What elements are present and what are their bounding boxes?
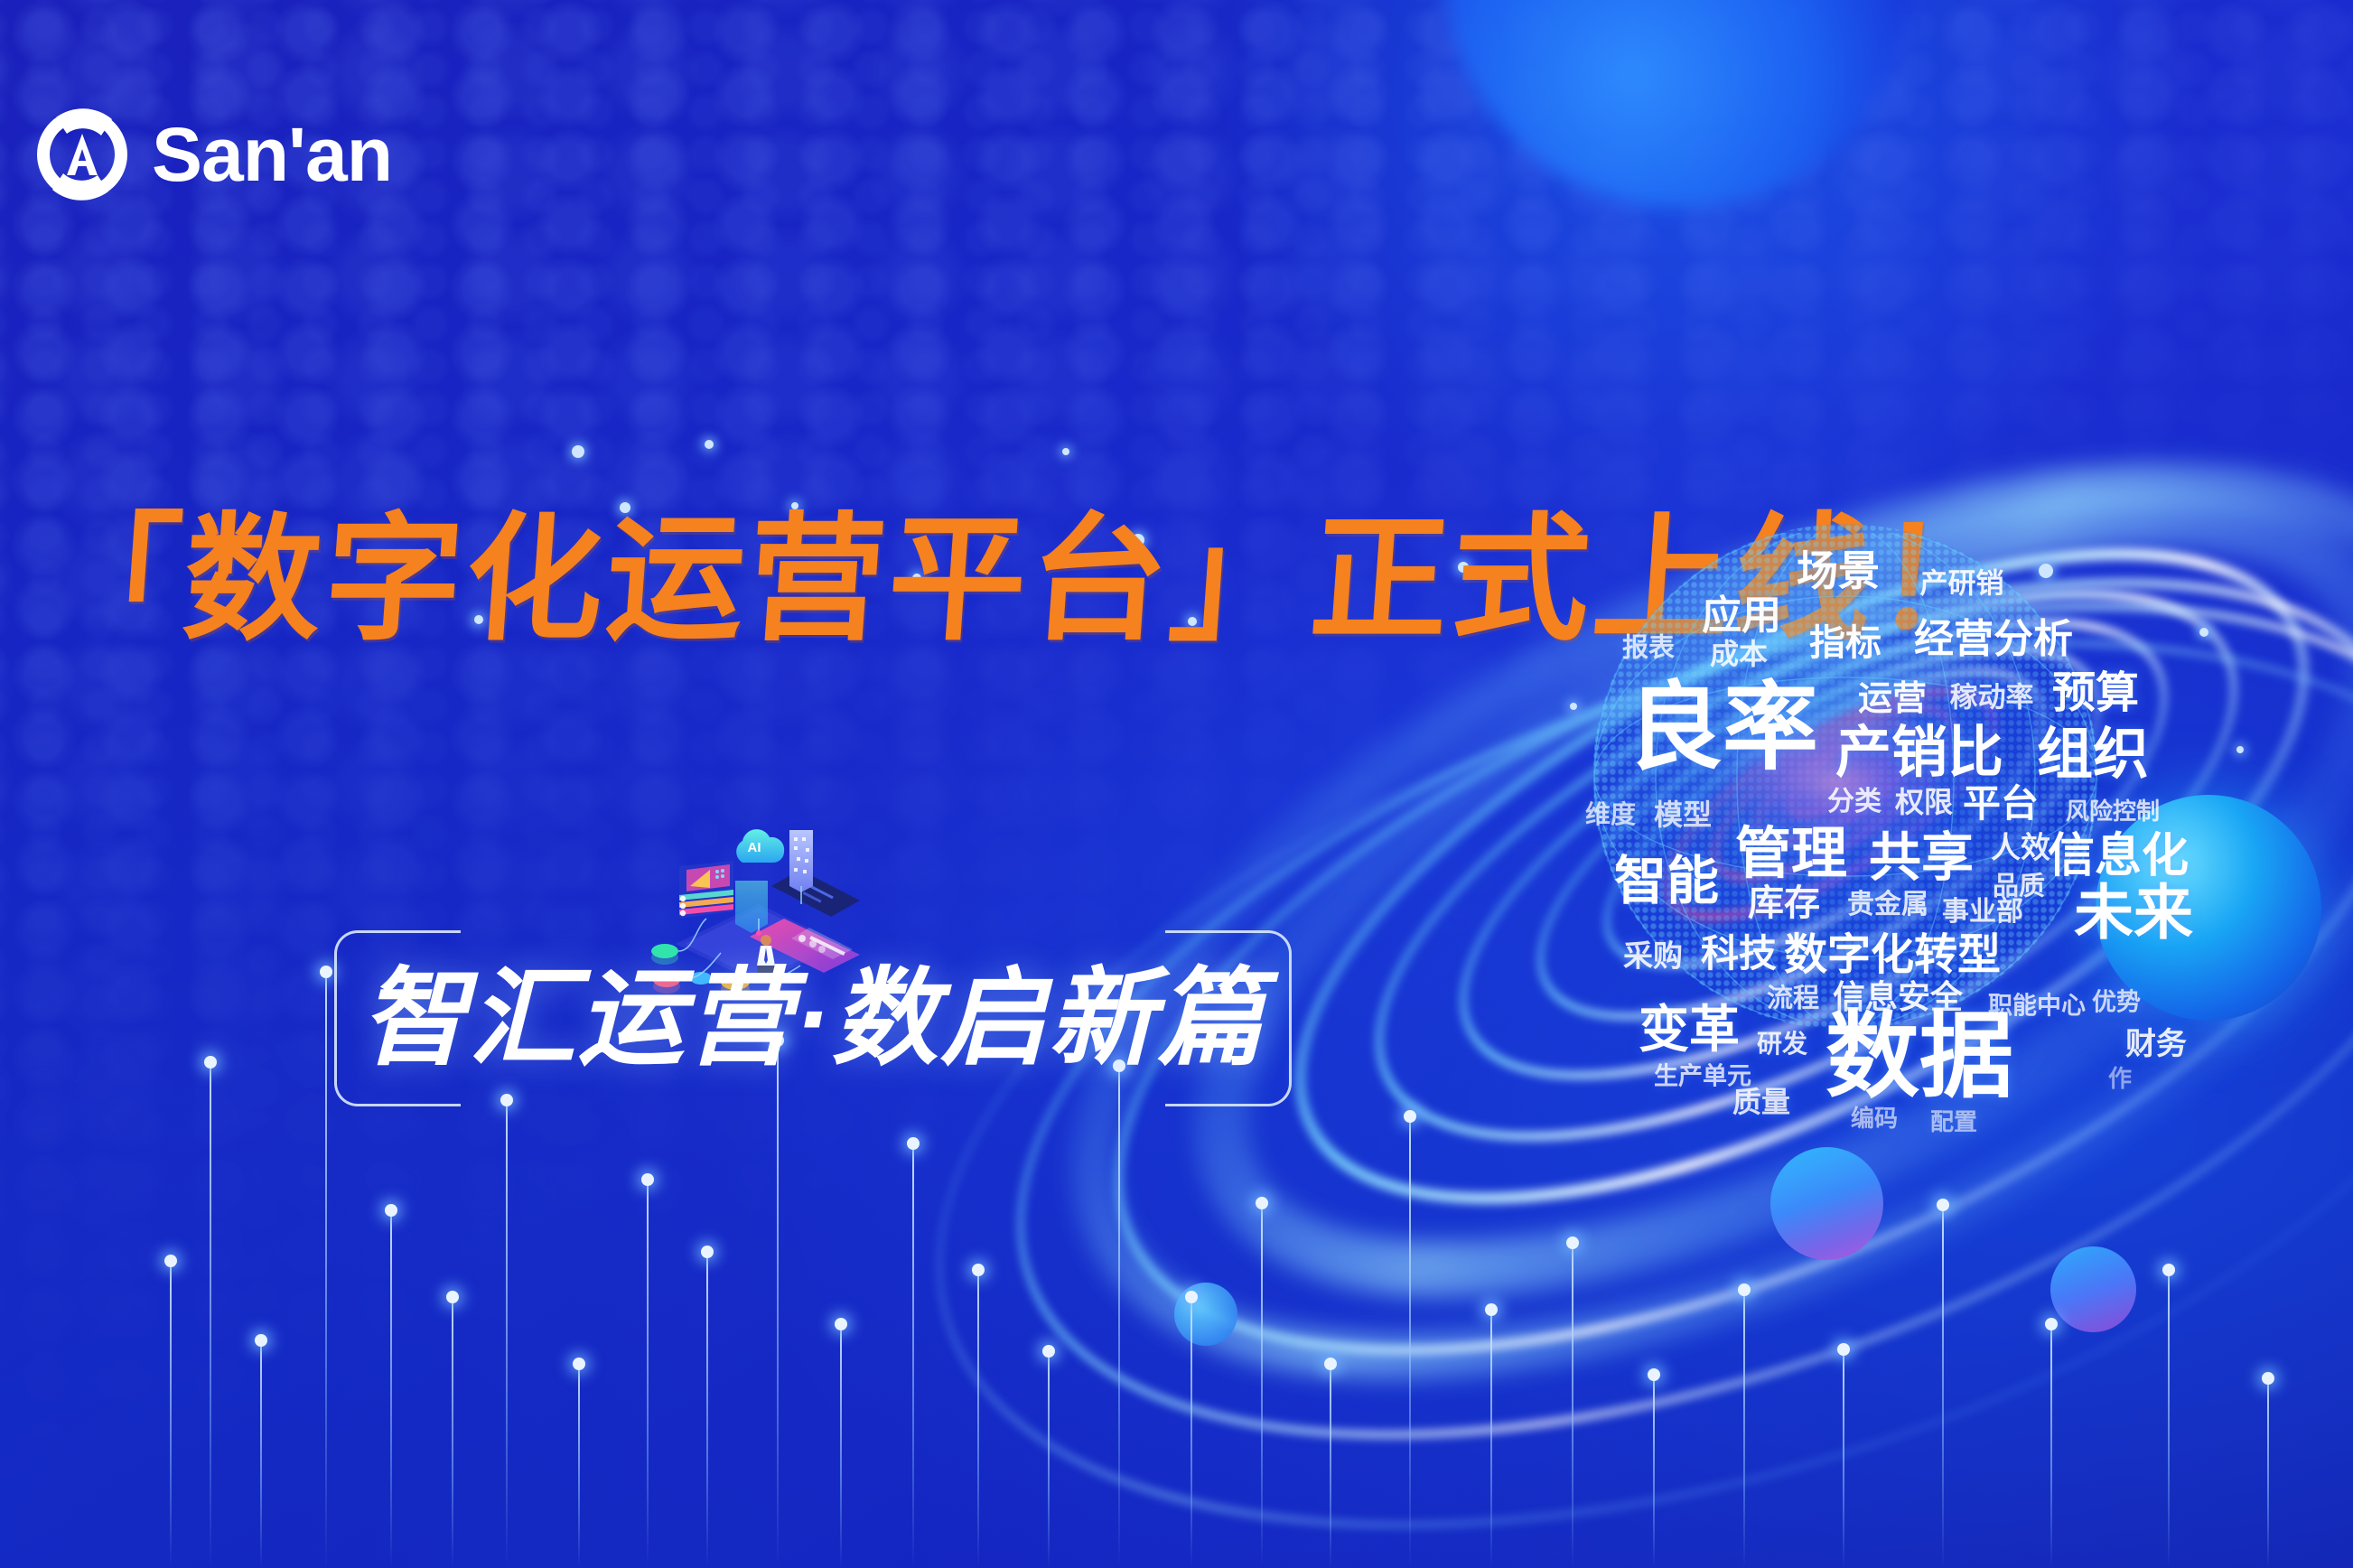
light-beam-5 xyxy=(452,1297,453,1568)
light-beam-4 xyxy=(390,1210,392,1568)
keyword-27: 事业部 xyxy=(1942,899,2023,926)
light-beam-0 xyxy=(170,1261,172,1568)
decor-sphere-gradient-1 xyxy=(1770,1147,1883,1260)
keyword-42: 编码 xyxy=(1851,1106,1898,1130)
promo-banner: San'an 「数字化运营平台」正式上线！ xyxy=(0,0,2353,1568)
keyword-8: 稼动率 xyxy=(1950,684,2034,712)
keyword-13: 维度 xyxy=(1585,802,1636,827)
keyword-10: 良率 xyxy=(1627,680,1818,776)
keyword-20: 共享 xyxy=(1869,832,1974,884)
light-beam-12 xyxy=(912,1143,914,1568)
keyword-43: 配置 xyxy=(1930,1110,1977,1134)
light-beam-23 xyxy=(1743,1290,1745,1568)
keyword-cloud-globe: 场景产研销应用报表成本指标经营分析运营稼动率预算良率产销比组织维度模型分类权限平… xyxy=(1567,533,2236,1021)
keyword-31: 数字化转型 xyxy=(1784,934,2001,977)
keyword-28: 未来 xyxy=(2074,882,2193,942)
keyword-41: 质量 xyxy=(1732,1087,1790,1116)
keyword-2: 应用 xyxy=(1702,596,1781,636)
keyword-30: 科技 xyxy=(1701,935,1777,973)
keyword-4: 成本 xyxy=(1710,639,1768,668)
light-beam-17 xyxy=(1261,1203,1263,1568)
light-beam-6 xyxy=(506,1100,508,1568)
subtitle-text: 智汇运营·数启新篇 xyxy=(334,966,1292,1072)
keyword-11: 产销比 xyxy=(1835,725,2003,781)
keyword-9: 预算 xyxy=(2052,672,2139,715)
light-beam-8 xyxy=(647,1180,649,1568)
keyword-38: 数据 xyxy=(1825,1010,2013,1104)
keyword-19: 管理 xyxy=(1735,826,1847,882)
keyword-36: 变革 xyxy=(1639,1004,1740,1055)
sparkle-5 xyxy=(1062,448,1069,455)
keyword-29: 采购 xyxy=(1623,941,1683,971)
light-beam-25 xyxy=(1942,1205,1944,1568)
keyword-7: 运营 xyxy=(1858,682,1927,716)
keyword-14: 模型 xyxy=(1654,800,1712,829)
glowing-planet-top-right xyxy=(1445,0,1915,208)
light-beam-28 xyxy=(2267,1378,2269,1568)
decor-sphere-small xyxy=(1174,1283,1237,1346)
keyword-16: 权限 xyxy=(1895,788,1953,817)
light-beam-13 xyxy=(977,1270,979,1568)
sparkle-0 xyxy=(572,445,584,458)
keyword-3: 报表 xyxy=(1622,636,1675,662)
light-beam-27 xyxy=(2168,1270,2170,1568)
keyword-17: 平台 xyxy=(1963,785,2039,823)
sparkle-1 xyxy=(705,440,714,449)
keyword-5: 指标 xyxy=(1809,625,1881,661)
brand-logo[interactable]: San'an xyxy=(34,107,392,202)
keyword-0: 场景 xyxy=(1797,550,1880,592)
keyword-15: 分类 xyxy=(1827,789,1881,816)
keyword-21: 人效 xyxy=(1991,833,2050,863)
sanan-circle-a-logo-icon xyxy=(34,107,130,202)
light-beam-24 xyxy=(1843,1349,1844,1568)
light-beam-14 xyxy=(1048,1351,1050,1568)
keyword-22: 信息化 xyxy=(2048,833,2189,880)
ai-cloud-label: AI xyxy=(748,840,761,855)
light-beam-26 xyxy=(2050,1324,2052,1568)
light-beam-22 xyxy=(1653,1375,1655,1568)
keyword-12: 组织 xyxy=(2037,727,2149,783)
light-beam-11 xyxy=(840,1324,842,1568)
keyword-list: 场景产研销应用报表成本指标经营分析运营稼动率预算良率产销比组织维度模型分类权限平… xyxy=(1567,533,2236,1021)
light-beam-9 xyxy=(706,1252,708,1568)
light-beam-20 xyxy=(1490,1310,1492,1568)
light-beam-1 xyxy=(210,1062,211,1568)
light-beam-10 xyxy=(777,1041,779,1568)
light-beam-19 xyxy=(1409,1116,1411,1568)
light-beam-3 xyxy=(325,972,327,1568)
keyword-39: 财务 xyxy=(2125,1029,2187,1059)
keyword-6: 经营分析 xyxy=(1914,620,2073,659)
keyword-35: 优势 xyxy=(2092,991,2141,1015)
keyword-25: 贵金属 xyxy=(1847,891,1928,919)
sparkle-13 xyxy=(2236,746,2244,753)
light-beam-15 xyxy=(1118,1066,1120,1568)
subtitle-block: 智汇运营·数启新篇 xyxy=(334,930,1292,1106)
keyword-37: 研发 xyxy=(1757,1031,1807,1057)
light-beam-18 xyxy=(1330,1364,1331,1568)
keyword-24: 库存 xyxy=(1748,885,1820,921)
keyword-18: 风险控制 xyxy=(2066,799,2160,823)
keyword-1: 产研销 xyxy=(1920,570,2004,598)
keyword-44: 作 xyxy=(2108,1067,2132,1090)
brand-name: San'an xyxy=(152,117,392,192)
keyword-23: 智能 xyxy=(1614,855,1719,908)
light-beam-7 xyxy=(578,1364,580,1568)
decor-sphere-gradient-2 xyxy=(2050,1246,2136,1332)
keyword-32: 流程 xyxy=(1767,986,1819,1013)
light-beam-21 xyxy=(1572,1243,1573,1568)
light-beam-2 xyxy=(260,1340,262,1568)
